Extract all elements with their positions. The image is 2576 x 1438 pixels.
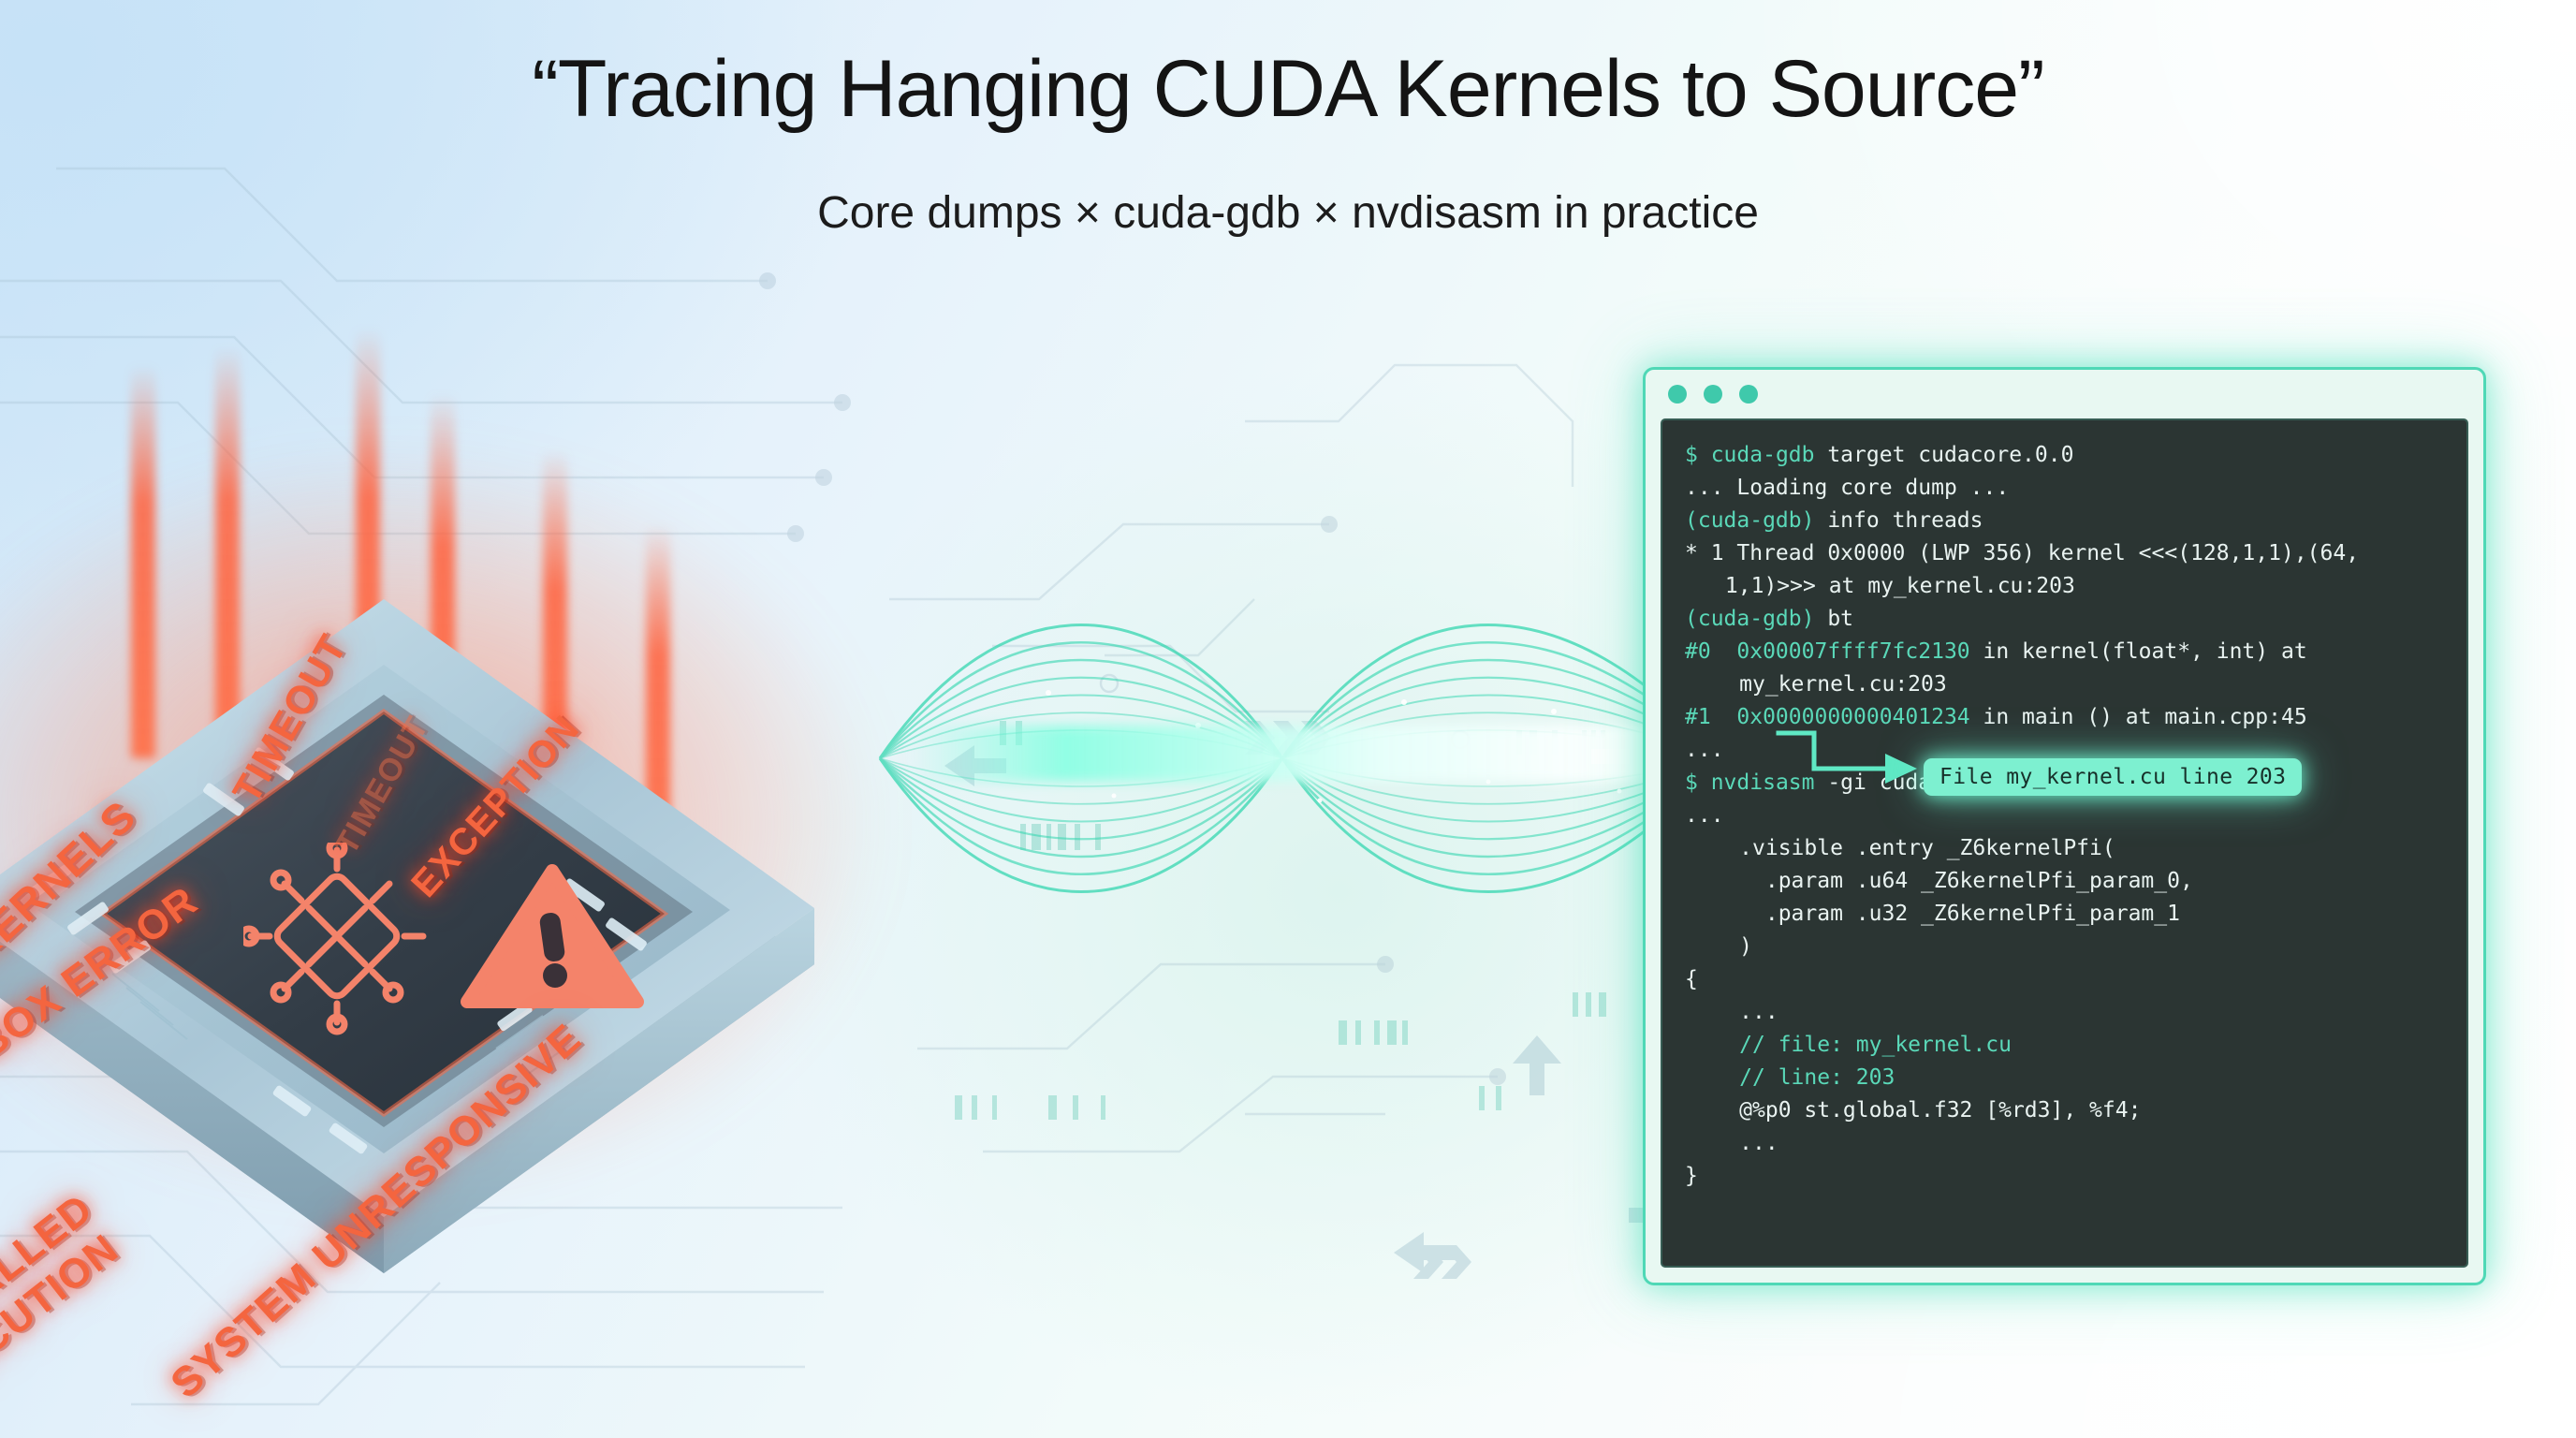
terminal-line: ... Loading core dump ...	[1685, 472, 2455, 505]
terminal-token: // line: 203	[1739, 1065, 1895, 1090]
terminal-token: ...	[1685, 803, 1724, 828]
terminal-token: #1 0x0000000000401234	[1685, 705, 1970, 729]
terminal-token: my_kernel.cu:203	[1739, 672, 1947, 697]
terminal-token: (cuda-gdb)	[1685, 508, 1814, 533]
terminal-token: .param .u64 _Z6kernelPfi_param_0,	[1765, 869, 2193, 893]
poster-canvas: HUNG KERNELSBLACK BOX ERRORSTALLEDEXECUT…	[0, 0, 2576, 1438]
data-flow-wave	[880, 562, 1722, 955]
terminal-titlebar	[1646, 370, 2483, 418]
terminal-token: info threads	[1814, 508, 1983, 533]
terminal-line: @%p0 st.global.f32 [%rd3], %f4;	[1685, 1094, 2455, 1127]
terminal-line: $ cuda-gdb target cudacore.0.0	[1685, 439, 2455, 472]
window-minimize-dot-icon[interactable]	[1704, 385, 1722, 404]
terminal-token: * 1 Thread 0x0000 (LWP 356) kernel <<<(1…	[1685, 541, 2359, 565]
terminal-line: // line: 203	[1685, 1062, 2455, 1094]
terminal-token: ...	[1739, 1000, 1778, 1024]
terminal-token: ... Loading core dump ...	[1685, 476, 2009, 500]
terminal-line: ...	[1685, 800, 2455, 832]
window-maximize-dot-icon[interactable]	[1739, 385, 1758, 404]
terminal-token: target cudacore.0.0	[1814, 443, 2073, 467]
terminal-line: {	[1685, 963, 2455, 996]
terminal-line: * 1 Thread 0x0000 (LWP 356) kernel <<<(1…	[1685, 537, 2455, 570]
terminal-line: .param .u64 _Z6kernelPfi_param_0,	[1685, 865, 2455, 898]
terminal-token: in kernel(float*, int) at	[1970, 639, 2307, 664]
page-title: “Tracing Hanging CUDA Kernels to Source”	[0, 43, 2576, 136]
terminal-screen[interactable]: $ cuda-gdb target cudacore.0.0... Loadin…	[1661, 418, 2468, 1268]
page-subtitle: Core dumps × cuda-gdb × nvdisasm in prac…	[0, 187, 2576, 239]
terminal-token: .visible .entry _Z6kernelPfi(	[1739, 836, 2115, 860]
terminal-line: .param .u32 _Z6kernelPfi_param_1	[1685, 898, 2455, 931]
terminal-line: (cuda-gdb) info threads	[1685, 505, 2455, 537]
warning-triangle-icon	[445, 847, 660, 1034]
terminal-token: .param .u32 _Z6kernelPfi_param_1	[1765, 902, 2180, 926]
terminal-token: $	[1685, 443, 1711, 467]
terminal-line: }	[1685, 1160, 2455, 1193]
terminal-token: }	[1685, 1164, 1698, 1188]
terminal-token: $	[1685, 770, 1711, 795]
terminal-token: @%p0 st.global.f32 [%rd3], %f4;	[1739, 1098, 2141, 1123]
terminal-token: cuda-gdb	[1711, 443, 1815, 467]
terminal-token: )	[1739, 934, 1752, 959]
source-location-badge: File my_kernel.cu line 203	[1924, 758, 2302, 796]
terminal-token: bt	[1814, 607, 1853, 631]
terminal-line: ...	[1685, 1127, 2455, 1160]
terminal-line: .visible .entry _Z6kernelPfi(	[1685, 832, 2455, 865]
terminal-line: // file: my_kernel.cu	[1685, 1029, 2455, 1062]
terminal-line: )	[1685, 931, 2455, 963]
terminal-line: my_kernel.cu:203	[1685, 668, 2455, 701]
terminal-window[interactable]: $ cuda-gdb target cudacore.0.0... Loadin…	[1643, 367, 2486, 1285]
source-map-connector-arrow	[1773, 727, 1941, 793]
terminal-line: #0 0x00007ffff7fc2130 in kernel(float*, …	[1685, 636, 2455, 668]
terminal-token: in main () at main.cpp:45	[1970, 705, 2307, 729]
terminal-line: 1,1)>>> at my_kernel.cu:203	[1685, 570, 2455, 603]
terminal-line: ...	[1685, 996, 2455, 1029]
terminal-output: $ cuda-gdb target cudacore.0.0... Loadin…	[1685, 439, 2455, 1193]
terminal-token: {	[1685, 967, 1698, 991]
terminal-token: 1,1)>>> at my_kernel.cu:203	[1725, 574, 2075, 598]
terminal-line: (cuda-gdb) bt	[1685, 603, 2455, 636]
terminal-token: // file: my_kernel.cu	[1739, 1033, 2012, 1057]
window-close-dot-icon[interactable]	[1668, 385, 1687, 404]
terminal-token: (cuda-gdb)	[1685, 607, 1814, 631]
terminal-token: #0 0x00007ffff7fc2130	[1685, 639, 1970, 664]
terminal-token: ...	[1685, 738, 1724, 762]
wave-beam-glow	[908, 726, 1694, 782]
terminal-token: ...	[1739, 1131, 1778, 1155]
